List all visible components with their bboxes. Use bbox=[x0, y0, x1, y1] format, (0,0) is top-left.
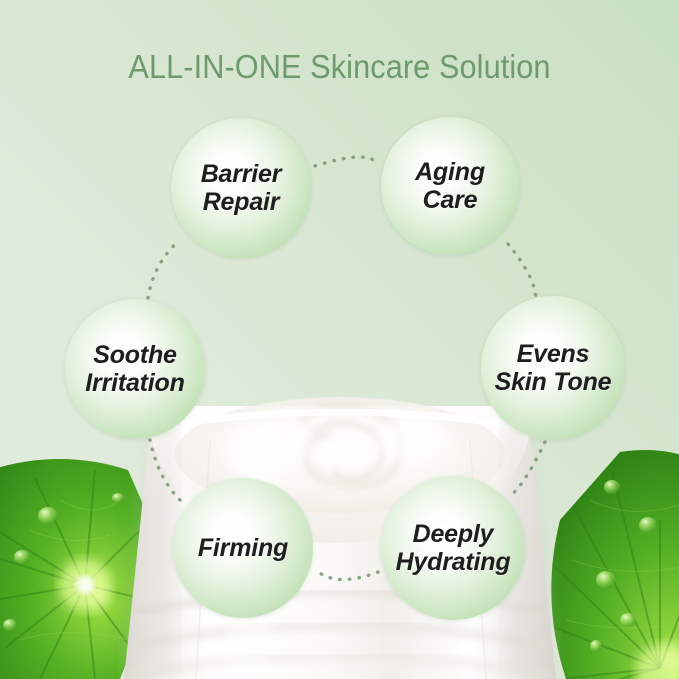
benefit-label: Deeply Hydrating bbox=[396, 520, 511, 576]
benefit-label: Soothe Irritation bbox=[85, 341, 184, 397]
page-title: ALL-IN-ONE Skincare Solution bbox=[24, 48, 655, 86]
infographic-canvas: ALL-IN-ONE Skincare Solution Barrier Rep… bbox=[0, 0, 679, 679]
benefit-bubble-firming[interactable]: Firming bbox=[173, 478, 313, 618]
benefit-label: Firming bbox=[198, 534, 288, 562]
benefit-bubble-barrier-repair[interactable]: Barrier Repair bbox=[171, 118, 311, 258]
benefit-label: Evens Skin Tone bbox=[495, 340, 612, 396]
benefit-label: Barrier Repair bbox=[201, 160, 282, 216]
benefit-bubble-soothe-irritation[interactable]: Soothe Irritation bbox=[65, 299, 205, 439]
benefit-bubble-aging-care[interactable]: Aging Care bbox=[381, 117, 519, 255]
benefit-bubble-evens-skin-tone[interactable]: Evens Skin Tone bbox=[481, 296, 625, 440]
benefit-label: Aging Care bbox=[415, 158, 485, 214]
benefit-bubble-deeply-hydrating[interactable]: Deeply Hydrating bbox=[381, 476, 525, 620]
water-droplets bbox=[38, 507, 58, 525]
